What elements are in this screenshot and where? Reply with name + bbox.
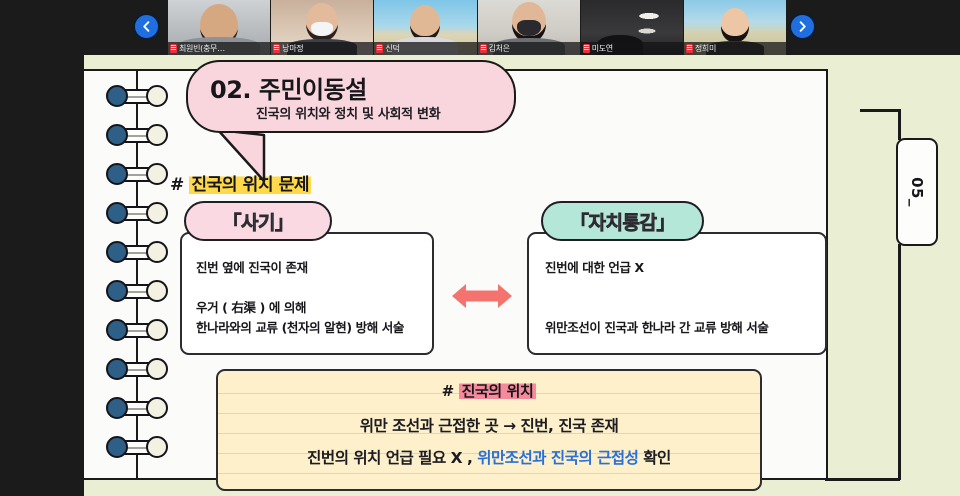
chevron-right-icon: [796, 20, 809, 33]
summary-line-2-pre: 진번의 위치 언급 필요 X ,: [307, 449, 477, 467]
binder-ring: [106, 124, 168, 146]
source-right-line-1: 진번에 대한 언급 X: [545, 260, 644, 277]
source-box-left: 진번 옆에 진국이 존재 우거 ( 右渠 ) 에 의해 한나라와의 교류 (천자…: [180, 232, 434, 355]
mic-muted-icon: [170, 44, 177, 53]
mic-muted-icon: [686, 44, 693, 53]
summary-heading-text: 진국의 위치: [459, 382, 537, 400]
participant-face: [721, 8, 749, 42]
face-mask-icon: [311, 22, 333, 36]
binder-ring: [106, 319, 168, 341]
chevron-left-icon: [140, 20, 153, 33]
participant-namebar: 최원빈(충무…: [168, 42, 270, 55]
binder-ring: [106, 163, 168, 185]
source-left-line-2: 우거 ( 右渠 ) 에 의해: [196, 300, 306, 317]
participant-tile[interactable]: 신덕: [374, 0, 476, 55]
participant-face: [410, 5, 440, 41]
source-box-right: 진번에 대한 언급 X 위만조선이 진국과 한나라 간 교류 방해 서술: [527, 232, 827, 355]
participant-name: 신덕: [385, 43, 399, 54]
source-right-line-2: 위만조선이 진국과 한나라 간 교류 방해 서술: [545, 320, 769, 337]
page-number-tab: 05_: [896, 138, 938, 246]
participant-namebar: 정희미: [684, 42, 786, 55]
shared-slide[interactable]: 05_ 02. 주민이동설 진국의 위치와 정치 및 사회적 변화 # 진국의 …: [84, 55, 960, 496]
binder-ring: [106, 202, 168, 224]
participant-namebar: 김처은: [478, 42, 580, 55]
source-left-line-3: 한나라와의 교류 (천자의 알현) 방해 서술: [196, 320, 404, 337]
next-participants-button[interactable]: [789, 13, 816, 40]
tab-connector-top: [860, 109, 900, 112]
participant-tile[interactable]: 김처은: [478, 0, 580, 55]
source-label-left: 「사기」: [184, 201, 332, 241]
participant-name: 김처은: [489, 43, 510, 54]
participant-tile[interactable]: 최원빈(충무…: [168, 0, 270, 55]
participant-name: 낭마정: [282, 43, 303, 54]
participant-name: 미도연: [592, 43, 613, 54]
summary-line-1: 위만 조선과 근접한 곳 → 진번, 진국 존재: [218, 414, 760, 436]
page-number-label: 05_: [908, 177, 926, 207]
participant-tile[interactable]: 미도연: [581, 0, 683, 55]
summary-line-2-post: 확인: [638, 449, 670, 467]
source-label-left-text: 「사기」: [223, 208, 294, 235]
slide-title-bubble: 02. 주민이동설 진국의 위치와 정치 및 사회적 변화: [186, 60, 516, 133]
video-filmstrip: 최원빈(충무… 낭마정 신덕: [0, 0, 960, 55]
participant-namebar: 낭마정: [271, 42, 373, 55]
participant-name: 최원빈(충무…: [179, 43, 225, 54]
prev-participants-button[interactable]: [133, 13, 160, 40]
summary-line-2: 진번의 위치 언급 필요 X , 위만조선과 진국의 근접성 확인: [218, 446, 760, 468]
mic-muted-icon: [583, 44, 590, 53]
binder-ring: [106, 85, 168, 107]
participant-tile[interactable]: 낭마정: [271, 0, 373, 55]
double-headed-arrow-icon: [450, 279, 514, 313]
summary-line-2-emphasis: 위만조선과 진국의 근접성: [477, 449, 638, 467]
participant-name: 정희미: [695, 43, 716, 54]
binder-ring: [106, 397, 168, 419]
spiral-binding: [106, 85, 170, 485]
participant-thumbnails: 최원빈(충무… 낭마정 신덕: [168, 0, 786, 55]
binder-ring: [106, 280, 168, 302]
source-left-line-1: 진번 옆에 진국이 존재: [196, 260, 308, 277]
screen-root: 최원빈(충무… 낭마정 신덕: [0, 0, 960, 496]
summary-heading-hash: #: [442, 382, 454, 400]
mic-muted-icon: [480, 44, 487, 53]
binder-ring: [106, 436, 168, 458]
page-subtitle: 진국의 위치와 정치 및 사회적 변화: [256, 103, 440, 122]
face-mask-icon: [517, 20, 541, 36]
participant-namebar: 신덕: [374, 42, 476, 55]
tab-connector-lower: [898, 244, 901, 480]
tab-connector-upper: [898, 109, 901, 140]
summary-box: # 진국의 위치 위만 조선과 근접한 곳 → 진번, 진국 존재 진번의 위치…: [216, 369, 762, 491]
participant-tile[interactable]: 정희미: [684, 0, 786, 55]
section-heading-hash: #: [170, 175, 184, 195]
source-label-right: 「자치통감」: [541, 201, 704, 241]
participant-namebar: 미도연: [581, 42, 683, 55]
tab-connector-bottom: [825, 478, 900, 481]
speech-bubble-tail: [216, 129, 276, 187]
mic-muted-icon: [376, 44, 383, 53]
page-title: 02. 주민이동설: [210, 70, 367, 105]
binder-ring: [106, 358, 168, 380]
source-label-right-text: 「자치통감」: [570, 208, 675, 235]
mic-muted-icon: [273, 44, 280, 53]
binder-ring: [106, 241, 168, 263]
summary-heading: # 진국의 위치: [218, 380, 760, 401]
